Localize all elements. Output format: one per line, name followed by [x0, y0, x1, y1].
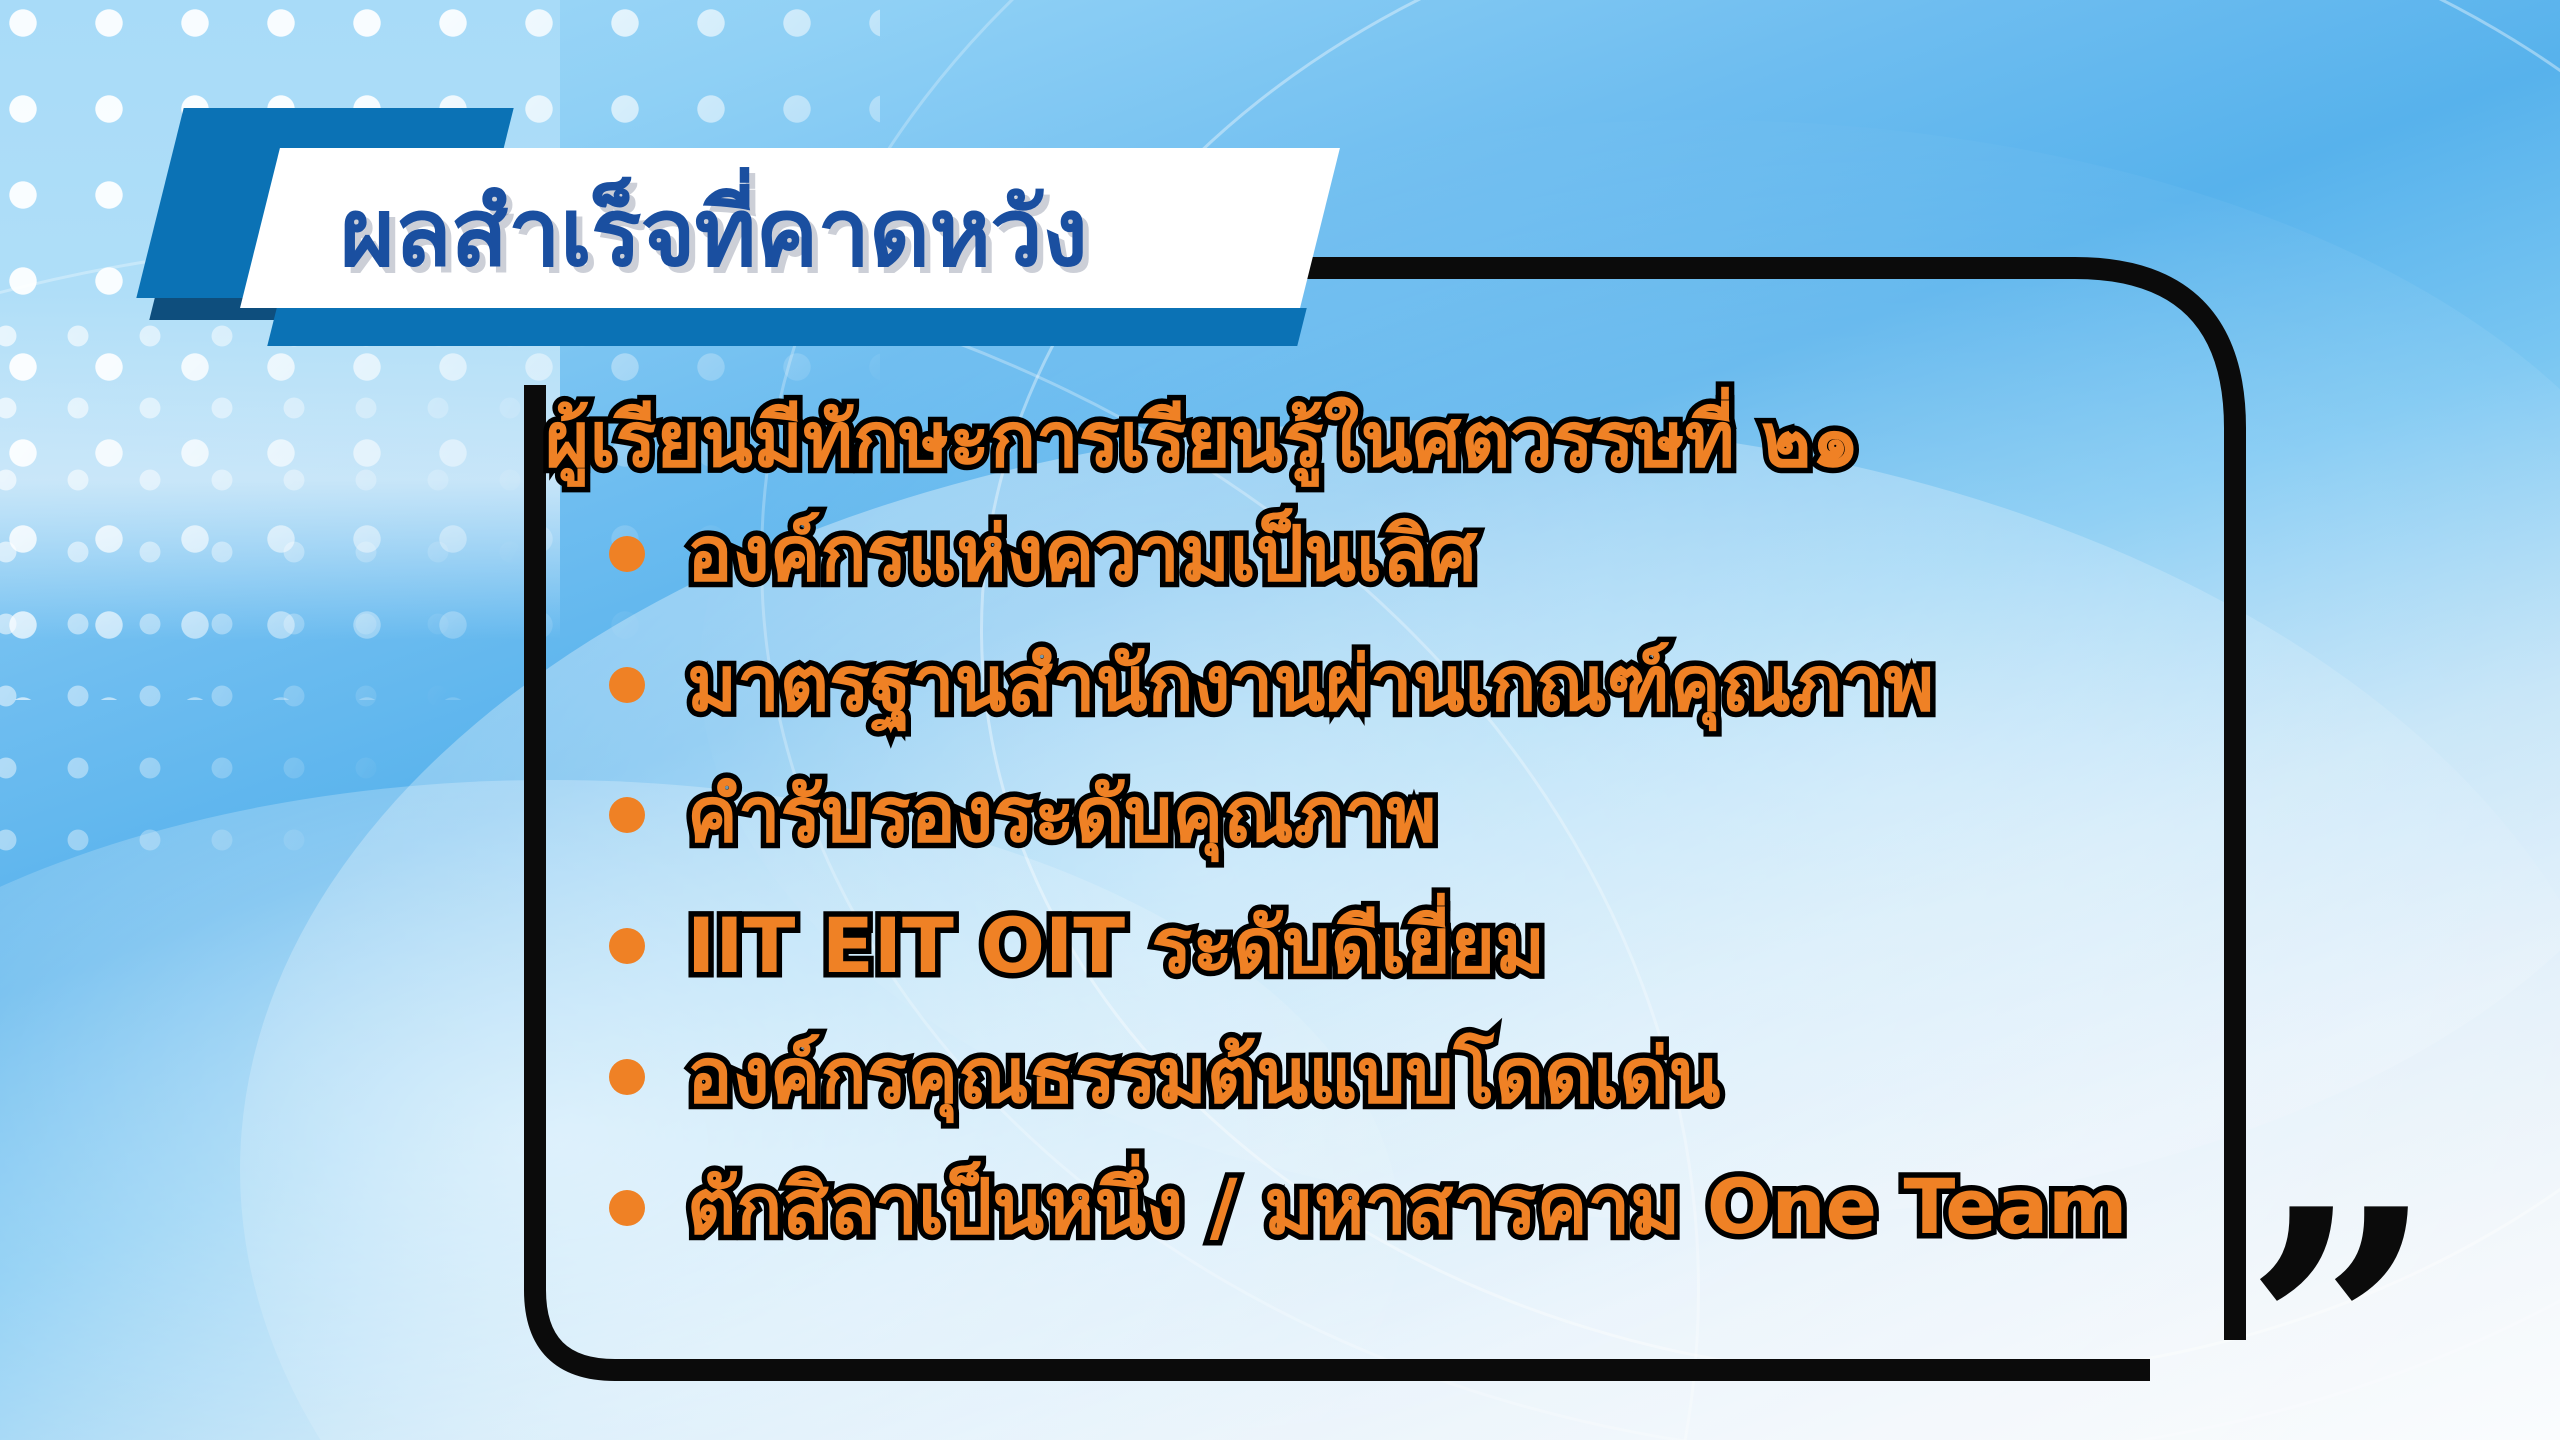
list-item: องค์กรคุณธรรมต้นแบบโดดเด่น	[591, 1011, 2305, 1142]
list-item-label: IIT EIT OIT ระดับดีเยี่ยม	[687, 881, 1545, 1012]
slide-canvas: ผลสำเร็จที่คาดหวัง ผู้เรียนมีทักษะการเรี…	[0, 0, 2560, 1440]
list-item: IIT EIT OIT ระดับดีเยี่ยม	[591, 881, 2305, 1012]
bullet-dot-icon	[609, 797, 645, 833]
list-item-label: มาตรฐานสำนักงานผ่านเกณฑ์คุณภาพ	[687, 619, 1934, 750]
outcome-list: องค์กรแห่งความเป็นเลิศ มาตรฐานสำนักงานผ่…	[545, 489, 2305, 1273]
bullet-dot-icon	[609, 928, 645, 964]
list-item-label: คำรับรองระดับคุณภาพ	[687, 750, 1437, 881]
bullet-dot-icon	[609, 667, 645, 703]
banner-blue-underbar	[267, 308, 1306, 346]
list-item: มาตรฐานสำนักงานผ่านเกณฑ์คุณภาพ	[591, 619, 2305, 750]
bullet-dot-icon	[609, 1190, 645, 1226]
bullet-dot-icon	[609, 1059, 645, 1095]
bullet-dot-icon	[609, 536, 645, 572]
closing-quote-icon: ”	[2244, 1246, 2434, 1418]
list-item: ตักสิลาเป็นหนึ่ง / มหาสารคาม One Team	[591, 1142, 2305, 1273]
background-dot-pattern-secondary	[0, 300, 590, 860]
list-item: องค์กรแห่งความเป็นเลิศ	[591, 489, 2305, 620]
list-item: คำรับรองระดับคุณภาพ	[591, 750, 2305, 881]
list-item-label: องค์กรแห่งความเป็นเลิศ	[687, 489, 1477, 620]
section-heading: ผู้เรียนมีทักษะการเรียนรู้ในศตวรรษที่ ๒๑	[545, 400, 2305, 481]
content-area: ผู้เรียนมีทักษะการเรียนรู้ในศตวรรษที่ ๒๑…	[545, 400, 2305, 1273]
list-item-label: ตักสิลาเป็นหนึ่ง / มหาสารคาม One Team	[687, 1142, 2127, 1273]
list-item-label: องค์กรคุณธรรมต้นแบบโดดเด่น	[687, 1011, 1721, 1142]
page-title: ผลสำเร็จที่คาดหวัง	[340, 162, 1240, 302]
title-banner: ผลสำเร็จที่คาดหวัง	[140, 100, 1200, 340]
